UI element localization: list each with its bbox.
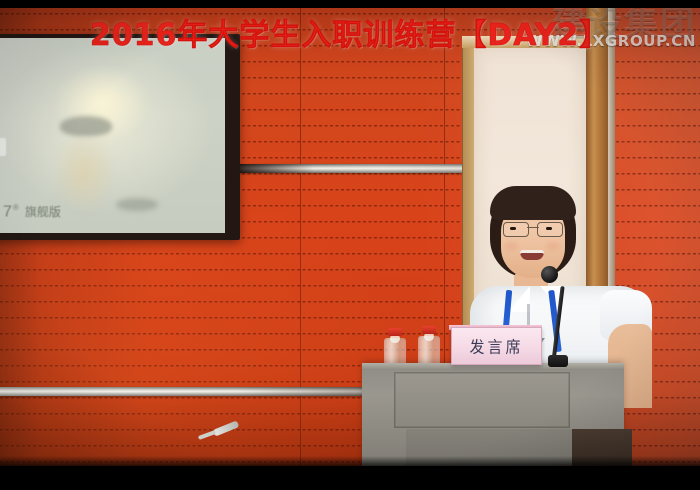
- microphone-head-icon: [541, 266, 558, 283]
- bottle-cap: [422, 326, 436, 334]
- speaker-cheek: [546, 242, 560, 250]
- bottle-cap: [388, 328, 402, 336]
- microphone-base: [548, 355, 568, 367]
- letterbox-top: [0, 0, 700, 8]
- letterbox-bottom: [0, 466, 700, 490]
- speaker-mouth: [520, 250, 544, 260]
- photo-screenshot: w ws 7®旗舰版: [0, 0, 700, 490]
- overlay-title: 2016年大学生入职训练营【DAY2】: [0, 10, 700, 54]
- screen-glare: [0, 38, 225, 233]
- podium-front-panel: [394, 372, 570, 428]
- podium-sign: 发言席: [451, 327, 542, 365]
- speaker-eye-right: [546, 227, 552, 230]
- projection-screen: w ws 7®旗舰版: [0, 38, 225, 233]
- podium-sign-label: 发言席: [469, 335, 523, 357]
- speaker-cheek: [504, 242, 518, 250]
- projection-screen-frame: w ws 7®旗舰版: [0, 34, 240, 240]
- glasses-lens-left: [503, 222, 529, 237]
- letterbox-bottom-gradient: [0, 456, 700, 466]
- speaker-eye-left: [510, 227, 516, 230]
